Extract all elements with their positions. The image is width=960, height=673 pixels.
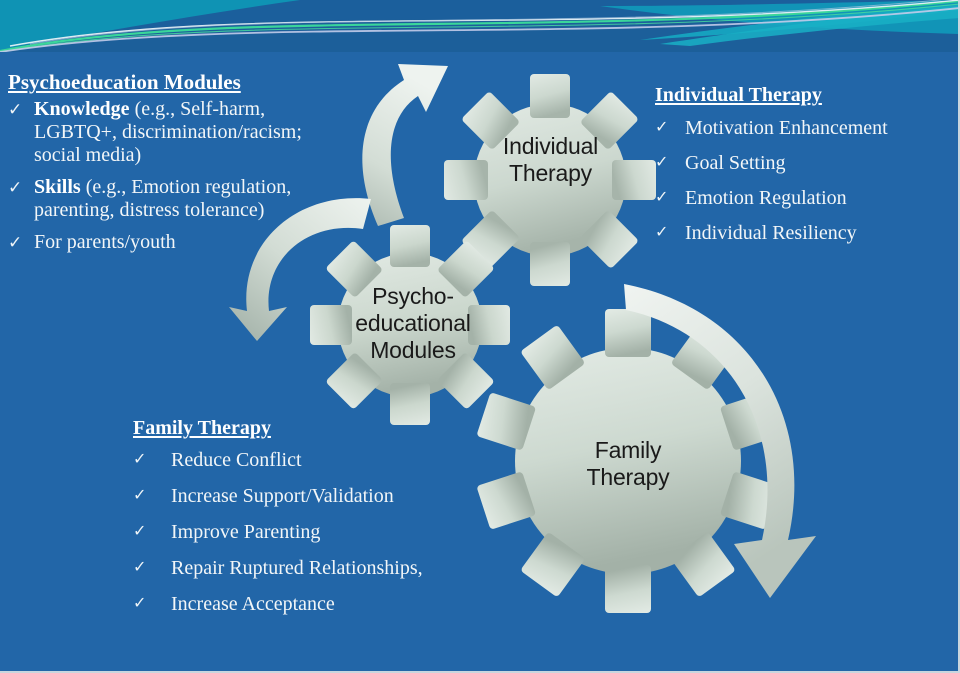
text-block-individual-therapy: Individual Therapy ✓ Motivation Enhancem… xyxy=(655,84,960,256)
list-item: ✓ Reduce Conflict xyxy=(133,448,533,472)
check-icon: ✓ xyxy=(655,186,685,205)
list-item-text: Improve Parenting xyxy=(171,520,533,544)
list-item: ✓ Knowledge (e.g., Self-harm, LGBTQ+, di… xyxy=(8,98,318,167)
list-item: ✓ For parents/youth xyxy=(8,231,318,254)
list-item-text: Increase Acceptance xyxy=(171,592,533,616)
check-icon: ✓ xyxy=(133,448,171,467)
list-item: ✓ Increase Support/Validation xyxy=(133,484,533,508)
list-item-text: Motivation Enhancement xyxy=(685,116,960,140)
psychoeducation-title: Psychoeducation Modules xyxy=(8,70,318,95)
individual-therapy-bullet-list: ✓ Motivation Enhancement ✓ Goal Setting … xyxy=(655,116,960,245)
list-item: ✓ Goal Setting xyxy=(655,151,960,175)
list-item-text: Individual Resiliency xyxy=(685,221,960,245)
check-icon: ✓ xyxy=(655,116,685,135)
check-icon: ✓ xyxy=(655,151,685,170)
list-item-text: Goal Setting xyxy=(685,151,960,175)
slide-canvas: Individual Therapy xyxy=(0,0,960,673)
list-item: ✓ Repair Ruptured Relationships, xyxy=(133,556,533,580)
list-item-text: Reduce Conflict xyxy=(171,448,533,472)
family-therapy-title: Family Therapy xyxy=(133,417,533,440)
check-icon: ✓ xyxy=(133,484,171,503)
gear-label-family-therapy: Family Therapy xyxy=(548,437,708,491)
family-therapy-bullet-list: ✓ Reduce Conflict ✓ Increase Support/Val… xyxy=(133,448,533,616)
individual-therapy-title: Individual Therapy xyxy=(655,84,960,107)
check-icon: ✓ xyxy=(133,520,171,539)
check-icon: ✓ xyxy=(8,176,34,197)
list-item-text: Increase Support/Validation xyxy=(171,484,533,508)
list-item-emphasis: Knowledge xyxy=(34,98,130,120)
list-item: ✓ Skills (e.g., Emotion regulation, pare… xyxy=(8,176,318,222)
list-item-text: Repair Ruptured Relationships, xyxy=(171,556,533,580)
check-icon: ✓ xyxy=(8,98,34,119)
check-icon: ✓ xyxy=(8,231,34,252)
text-block-psychoeducation: Psychoeducation Modules ✓ Knowledge (e.g… xyxy=(8,70,318,263)
list-item: ✓ Improve Parenting xyxy=(133,520,533,544)
list-item-emphasis: Skills xyxy=(34,176,81,198)
arrow-up-to-individual-icon xyxy=(340,50,480,230)
list-item: ✓ Emotion Regulation xyxy=(655,186,960,210)
list-item: ✓ Motivation Enhancement xyxy=(655,116,960,140)
check-icon: ✓ xyxy=(133,592,171,611)
list-item-text: Knowledge (e.g., Self-harm, LGBTQ+, disc… xyxy=(34,98,318,167)
list-item: ✓ Increase Acceptance xyxy=(133,592,533,616)
list-item-text: Emotion Regulation xyxy=(685,186,960,210)
gear-label-individual-therapy: Individual Therapy xyxy=(468,133,633,187)
list-item: ✓ Individual Resiliency xyxy=(655,221,960,245)
text-block-family-therapy: Family Therapy ✓ Reduce Conflict ✓ Incre… xyxy=(133,417,533,628)
list-item-text: For parents/youth xyxy=(34,231,318,254)
psychoeducation-bullet-list: ✓ Knowledge (e.g., Self-harm, LGBTQ+, di… xyxy=(8,98,318,254)
check-icon: ✓ xyxy=(133,556,171,575)
gear-label-psychoeducational-modules: Psycho- educational Modules xyxy=(330,283,496,364)
decorative-wave-banner xyxy=(0,0,960,52)
list-item-text: Skills (e.g., Emotion regulation, parent… xyxy=(34,176,318,222)
check-icon: ✓ xyxy=(655,221,685,240)
list-item-rest: For parents/youth xyxy=(34,231,176,253)
